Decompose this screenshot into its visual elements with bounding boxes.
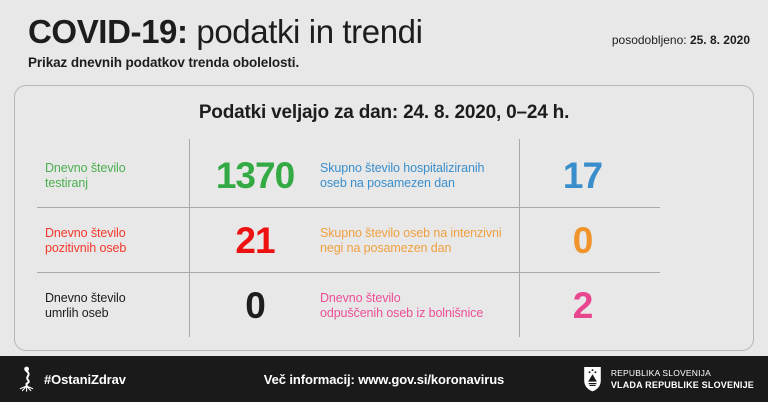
metric-label-line1: Skupno število oseb na intenzivni (320, 226, 502, 240)
metric-value-cell: 0 (520, 208, 645, 273)
page-footer: #OstaniZdrav Več informacij: www.gov.si/… (0, 356, 768, 402)
metric-label-line2: odpuščenih oseb iz bolnišnice (320, 306, 483, 320)
metric-label-line2: pozitivnih oseb (45, 241, 126, 255)
metric-value: 0 (245, 287, 265, 325)
page-title-light: podatki in trendi (188, 13, 423, 50)
metric-value-cell: 17 (520, 143, 645, 208)
metric-value: 21 (235, 222, 274, 260)
data-card: Podatki veljajo za dan: 24. 8. 2020, 0–2… (14, 85, 754, 351)
metric-label: Dnevno število pozitivnih oseb (45, 226, 126, 256)
metric-value-cell: 1370 (190, 143, 320, 208)
metric-value: 0 (573, 222, 593, 260)
metric-label: Dnevno število testiranj (45, 161, 126, 191)
person-figure-icon (18, 366, 34, 392)
metric-value: 17 (563, 157, 602, 195)
metric-label-cell: Dnevno število pozitivnih oseb (45, 208, 190, 273)
card-title: Podatki veljajo za dan: 24. 8. 2020, 0–2… (15, 102, 753, 124)
stay-healthy-group: #OstaniZdrav (18, 356, 126, 402)
metric-label: Skupno število oseb na intenzivni negi n… (320, 226, 502, 256)
metric-label-line1: Dnevno število (45, 161, 126, 175)
metric-label: Skupno število hospitaliziranih oseb na … (320, 161, 484, 191)
government-line-2: VLADA REPUBLIKE SLOVENIJE (611, 379, 754, 391)
last-updated: posodobljeno: 25. 8. 2020 (612, 33, 750, 47)
metric-label: Dnevno število odpuščenih oseb iz bolniš… (320, 291, 483, 321)
metric-label-cell: Dnevno število umrlih oseb (45, 273, 190, 338)
metric-value-cell: 0 (190, 273, 320, 338)
metric-label-line1: Skupno število hospitaliziranih (320, 161, 484, 175)
metric-value-cell: 2 (520, 273, 645, 338)
page-title: COVID-19: podatki in trendi (28, 12, 423, 52)
page-header: COVID-19: podatki in trendi Prikaz dnevn… (0, 0, 768, 78)
metric-value: 2 (573, 287, 593, 325)
metrics-grid: Dnevno število testiranj 1370 Skupno šte… (45, 143, 725, 338)
slovenia-coat-of-arms-icon (583, 366, 602, 392)
stay-healthy-hashtag[interactable]: #OstaniZdrav (44, 372, 126, 387)
metric-value: 1370 (216, 157, 294, 195)
metric-label-cell: Dnevno število odpuščenih oseb iz bolniš… (320, 273, 520, 338)
metric-label-line1: Dnevno število (45, 291, 126, 305)
metric-label-cell: Skupno število hospitaliziranih oseb na … (320, 143, 520, 208)
page-subtitle: Prikaz dnevnih podatkov trenda obolelost… (28, 55, 299, 70)
metric-label: Dnevno število umrlih oseb (45, 291, 126, 321)
metric-label-line1: Dnevno število (320, 291, 401, 305)
government-name: REPUBLIKA SLOVENIJA VLADA REPUBLIKE SLOV… (611, 368, 754, 391)
metric-label-line2: testiranj (45, 176, 88, 190)
metric-label-cell: Dnevno število testiranj (45, 143, 190, 208)
government-branding: REPUBLIKA SLOVENIJA VLADA REPUBLIKE SLOV… (583, 356, 754, 402)
more-info-link[interactable]: Več informacij: www.gov.si/koronavirus (264, 372, 504, 387)
metric-label-line2: negi na posamezen dan (320, 241, 451, 255)
metric-label-cell: Skupno število oseb na intenzivni negi n… (320, 208, 520, 273)
metric-label-line2: oseb na posamezen dan (320, 176, 455, 190)
metric-label-line1: Dnevno število (45, 226, 126, 240)
last-updated-label: posodobljeno: (612, 33, 687, 47)
metric-label-line2: umrlih oseb (45, 306, 109, 320)
last-updated-date: 25. 8. 2020 (690, 33, 750, 47)
government-line-1: REPUBLIKA SLOVENIJA (611, 368, 754, 379)
page-title-strong: COVID-19: (28, 13, 188, 50)
metric-value-cell: 21 (190, 208, 320, 273)
